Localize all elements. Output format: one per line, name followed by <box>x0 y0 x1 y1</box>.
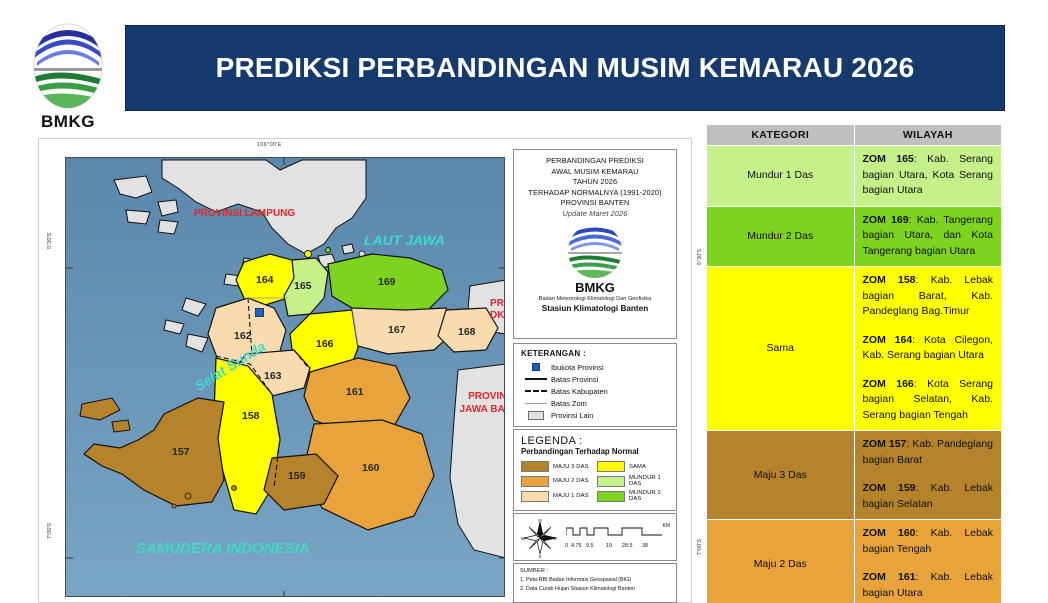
keterangan-label-2: Batas Kabupaten <box>551 387 608 396</box>
table-row: Mundur 1 DasZOM 165: Kab. Serang bagian … <box>707 146 1002 207</box>
keterangan-label-3: Batas Zom <box>551 399 587 408</box>
zom-code: ZOM 158 <box>863 274 916 286</box>
keterangan-label-1: Batas Provinsi <box>551 375 598 384</box>
zom-entry: ZOM 159: Kab. Lebak bagian Selatan <box>863 481 994 512</box>
zom-code: ZOM 164 <box>863 334 913 346</box>
table-row: Maju 3 DasZOM 157: Kab. Pandeglang bagia… <box>707 431 1002 520</box>
keterangan-item-ibukota: Ibukota Provinsi <box>521 361 669 373</box>
table-cell-wilayah: ZOM 157: Kab. Pandeglang bagian BaratZOM… <box>854 431 1002 520</box>
scale-tick-1: 4.75 <box>571 543 582 549</box>
legend-swatch-1 <box>597 461 625 472</box>
map-title-line-5: PROVINSI BANTEN <box>518 198 672 209</box>
bmkg-logo-block: BMKG <box>18 22 118 132</box>
table-cell-wilayah: ZOM 158: Kab. Lebak bagian Barat, Kab. P… <box>854 267 1002 431</box>
table-row: Mundur 2 DasZOM 169: Kab. Tangerang bagi… <box>707 206 1002 267</box>
keterangan-item-batas-zom: Batas Zom <box>521 397 669 409</box>
zom-entry: ZOM 157: Kab. Pandeglang bagian Barat <box>863 437 994 468</box>
map-coord-left-top: 5°30'S <box>47 233 53 249</box>
zom-entry: ZOM 158: Kab. Lebak bagian Barat, Kab. P… <box>863 273 994 320</box>
legend-item-mundur-1-das: MUNDUR 1 DAS <box>597 475 669 487</box>
map-title-subtitle-1: Badan Meteorologi Klimatologi Dan Geofis… <box>518 296 672 302</box>
zom-entry: ZOM 165: Kab. Serang bagian Utara, Kota … <box>863 152 994 199</box>
keterangan-item-batas-provinsi: Batas Provinsi <box>521 373 669 385</box>
legend-label-4: MAJU 1 DAS <box>553 493 589 499</box>
legend-label-3: MUNDUR 1 DAS <box>629 475 669 487</box>
table-cell-kategori: Sama <box>707 267 855 431</box>
zom-table: KATEGORI WILAYAH Mundur 1 DasZOM 165: Ka… <box>706 124 1002 603</box>
legend-swatch-3 <box>597 476 625 487</box>
solid-line-icon <box>521 378 551 381</box>
map-title-line-1: PERBANDINGAN PREDIKSI <box>518 156 672 167</box>
map-canvas[interactable]: Selat Sunda LAUT JAWA SAMUDERA INDONESIA… <box>65 157 505 597</box>
map-title-box: PERBANDINGAN PREDIKSI AWAL MUSIM KEMARAU… <box>513 149 677 339</box>
compass-s-label: S <box>538 554 541 558</box>
keterangan-title: KETERANGAN : <box>521 349 669 358</box>
bmkg-globe-icon <box>29 22 107 110</box>
zom-entry: ZOM 160: Kab. Lebak bagian Tengah <box>863 526 994 557</box>
sumber-title: SUMBER : <box>520 568 670 574</box>
legend-swatch-4 <box>521 491 549 502</box>
table-header-wilayah: WILAYAH <box>854 125 1002 146</box>
page-header: BMKG PREDIKSI PERBANDINGAN MUSIM KEMARAU… <box>0 0 1048 120</box>
gray-box-icon <box>521 411 551 420</box>
scale-bar: KM 0 4.75 9.5 19 28.5 38 <box>566 524 670 551</box>
compass-e-label: E <box>554 536 557 541</box>
sumber-box: SUMBER : 1. Peta RBI Badan Informasi Geo… <box>513 563 677 603</box>
scale-tick-5: 38 <box>642 543 648 549</box>
table-cell-wilayah: ZOM 165: Kab. Serang bagian Utara, Kota … <box>854 146 1002 207</box>
legend-label-5: MUNDUR 2 DAS <box>629 490 669 502</box>
scale-tick-3: 19 <box>606 543 612 549</box>
table-cell-wilayah: ZOM 169: Kab. Tangerang bagian Utara, da… <box>854 206 1002 267</box>
legenda-subtitle: Perbandingan Terhadap Normal <box>521 447 669 456</box>
map-coord-top: 106°00'E <box>257 142 282 148</box>
zom-code: ZOM 165 <box>863 153 914 165</box>
scale-box: N S W E KM 0 4.75 9.5 19 28.5 38 <box>513 513 677 561</box>
table-cell-kategori: Mundur 2 Das <box>707 206 855 267</box>
zom-code: ZOM 169 <box>863 214 909 226</box>
map-title-subtitle-2: Stasiun Klimatologi Banten <box>518 304 672 313</box>
scale-unit-label: KM <box>663 523 671 529</box>
table-cell-kategori: Maju 3 Das <box>707 431 855 520</box>
sumber-line-1: 1. Peta RBI Badan Informasi Geospasial (… <box>520 577 670 583</box>
page-title: PREDIKSI PERBANDINGAN MUSIM KEMARAU 2026 <box>216 52 915 84</box>
legend-item-mundur-2-das: MUNDUR 2 DAS <box>597 490 669 502</box>
thin-line-icon <box>521 403 551 404</box>
zom-entry: ZOM 164: Kota Cilegon, Kab. Serang bagia… <box>863 333 994 364</box>
sumber-line-2: 2. Data Curah Hujan Stasiun Klimatologi … <box>520 586 670 592</box>
legend-label-1: SAMA <box>629 464 646 470</box>
zom-code: ZOM 157 <box>863 438 907 450</box>
capital-city-marker <box>255 308 264 317</box>
table-row: Maju 2 DasZOM 160: Kab. Lebak bagian Ten… <box>707 520 1002 603</box>
legend-item-sama: SAMA <box>597 461 669 472</box>
map-coord-left-bottom: 7°00'S <box>47 523 53 539</box>
legend-label-2: MAJU 2 DAS <box>553 478 589 484</box>
map-title-line-2: AWAL MUSIM KEMARAU <box>518 167 672 178</box>
keterangan-label-0: Ibukota Provinsi <box>551 363 604 372</box>
table-cell-kategori: Mundur 1 Das <box>707 146 855 207</box>
zom-entry: ZOM 169: Kab. Tangerang bagian Utara, da… <box>863 213 994 260</box>
map-geometry <box>66 158 505 597</box>
table-cell-wilayah: ZOM 160: Kab. Lebak bagian TengahZOM 161… <box>854 520 1002 603</box>
table-header-kategori: KATEGORI <box>707 125 855 146</box>
zom-entry: ZOM 161: Kab. Lebak bagian Utara <box>863 570 994 601</box>
scale-tick-2: 9.5 <box>586 543 594 549</box>
zom-code: ZOM 161 <box>863 571 916 583</box>
dashed-line-icon <box>521 390 551 392</box>
map-title-line-3: TAHUN 2026 <box>518 177 672 188</box>
zom-code: ZOM 160 <box>863 527 916 539</box>
zom-table-container[interactable]: KATEGORI WILAYAH Mundur 1 DasZOM 165: Ka… <box>706 124 1002 603</box>
scale-tick-4: 28.5 <box>622 543 633 549</box>
zom-code: ZOM 166 <box>863 378 914 390</box>
legenda-title: LEGENDA : <box>521 435 669 447</box>
bmkg-logo-label: BMKG <box>18 112 118 132</box>
map-title-bmkg-label: BMKG <box>518 280 672 295</box>
title-banner: PREDIKSI PERBANDINGAN MUSIM KEMARAU 2026 <box>126 26 1004 110</box>
zom-entry: ZOM 166: Kota Serang bagian Selatan, Kab… <box>863 377 994 424</box>
capital-dot-icon <box>521 363 551 371</box>
map-title-line-4: TERHADAP NORMALNYA (1991-2020) <box>518 188 672 199</box>
legend-item-maju-3-das: MAJU 3 DAS <box>521 461 593 472</box>
map-coord-right-top: 5°30'S <box>697 249 703 265</box>
compass-rose-icon: N S W E <box>520 518 560 558</box>
scale-tick-labels: 0 4.75 9.5 19 28.5 38 <box>566 543 670 551</box>
legenda-box: LEGENDA : Perbandingan Terhadap Normal M… <box>513 429 677 511</box>
legend-item-maju-2-das: MAJU 2 DAS <box>521 475 593 487</box>
zom-code: ZOM 159 <box>863 482 916 494</box>
table-row: SamaZOM 158: Kab. Lebak bagian Barat, Ka… <box>707 267 1002 431</box>
legend-swatch-0 <box>521 461 549 472</box>
keterangan-label-4: Provinsi Lain <box>551 411 593 420</box>
legend-label-0: MAJU 3 DAS <box>553 464 589 470</box>
map-coord-right-bottom: 7°00'S <box>697 539 703 555</box>
map-title-update: Update Maret 2026 <box>518 209 672 220</box>
table-header-row: KATEGORI WILAYAH <box>707 125 1002 146</box>
legend-item-maju-1-das: MAJU 1 DAS <box>521 490 593 502</box>
map-panel: 106°00'E 5°30'S 7°00'S 5°30'S 7°00'S <box>38 138 692 603</box>
bmkg-logo-icon-small <box>564 223 626 279</box>
keterangan-box: KETERANGAN : Ibukota Provinsi Batas Prov… <box>513 343 677 427</box>
compass-n-label: N <box>538 518 541 523</box>
keterangan-item-batas-kabupaten: Batas Kabupaten <box>521 385 669 397</box>
keterangan-item-provinsi-lain: Provinsi Lain <box>521 409 669 421</box>
legend-swatch-5 <box>597 491 625 502</box>
table-cell-kategori: Maju 2 Das <box>707 520 855 603</box>
scale-tick-0: 0 <box>565 543 568 549</box>
legend-swatch-2 <box>521 476 549 487</box>
